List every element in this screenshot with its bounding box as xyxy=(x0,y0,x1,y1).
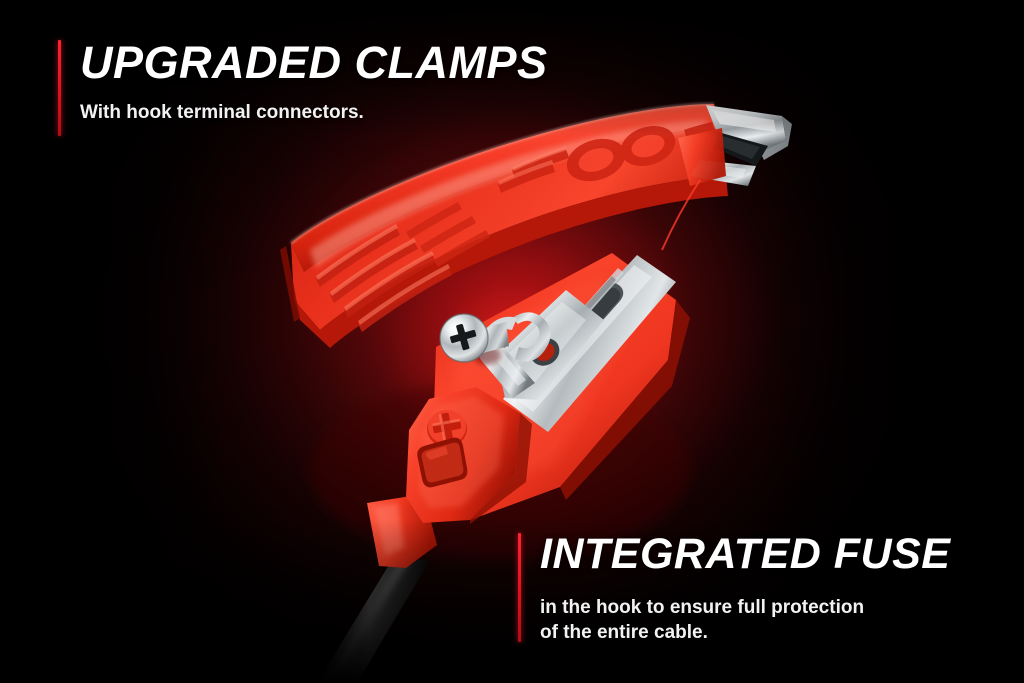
headline-integrated-fuse: INTEGRATED FUSE xyxy=(540,533,950,576)
subtitle-upgraded-clamps: With hook terminal connectors. xyxy=(80,100,364,125)
subtitle-line-1: in the hook to ensure full protection xyxy=(540,595,864,620)
headline-upgraded-clamps: UPGRADED CLAMPS xyxy=(80,40,548,85)
cable xyxy=(317,560,430,683)
accent-bar-integrated-fuse xyxy=(518,533,521,642)
marketing-banner: UPGRADED CLAMPS With hook terminal conne… xyxy=(0,0,1024,683)
accent-bar-upgraded-clamps xyxy=(58,40,61,136)
subtitle-integrated-fuse: in the hook to ensure full protection of… xyxy=(540,595,864,646)
subtitle-line-2: of the entire cable. xyxy=(540,620,864,645)
